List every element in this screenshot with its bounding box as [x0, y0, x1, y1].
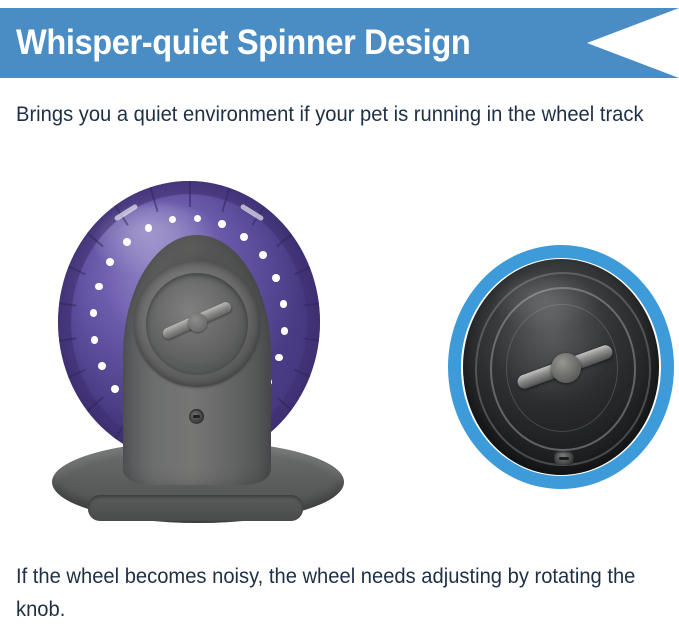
wheel-vent-hole: [240, 233, 248, 241]
instruction-paragraph-text: If the wheel becomes noisy, the wheel ne…: [16, 560, 654, 626]
header-banner: Whisper-quiet Spinner Design: [0, 8, 679, 78]
wheel-vent-hole: [281, 327, 288, 334]
wheel-rim-segment-tick: [189, 181, 191, 207]
adjustment-knob-center: [188, 313, 207, 332]
page-title: Whisper-quiet Spinner Design: [16, 23, 505, 63]
product-figure-row: [0, 175, 679, 540]
stand-screw-slot-icon: [193, 415, 200, 418]
instruction-paragraph: If the wheel becomes noisy, the wheel ne…: [16, 560, 679, 626]
wheel-vent-hole: [280, 300, 288, 308]
page-title-text: Whisper-quiet Spinner Design: [16, 23, 470, 63]
blue-callout-ring: [448, 245, 674, 489]
product-image-knob-closeup: [448, 245, 674, 489]
wheel-vent-hole: [95, 283, 103, 291]
wheel-vent-hole: [259, 251, 267, 259]
wheel-vent-hole: [218, 220, 226, 228]
wheel-vent-hole: [98, 362, 106, 370]
wheel-vent-hole: [90, 309, 97, 316]
intro-paragraph: Brings you a quiet environment if your p…: [16, 98, 676, 131]
intro-paragraph-text: Brings you a quiet environment if your p…: [16, 98, 650, 131]
wheel-vent-hole: [194, 215, 201, 222]
stand-base-lip: [88, 495, 303, 521]
wheel-vent-hole: [272, 274, 280, 282]
product-image-full-spinner: [50, 175, 350, 525]
wheel-vent-hole: [145, 224, 153, 232]
wheel-vent-hole: [91, 336, 99, 344]
